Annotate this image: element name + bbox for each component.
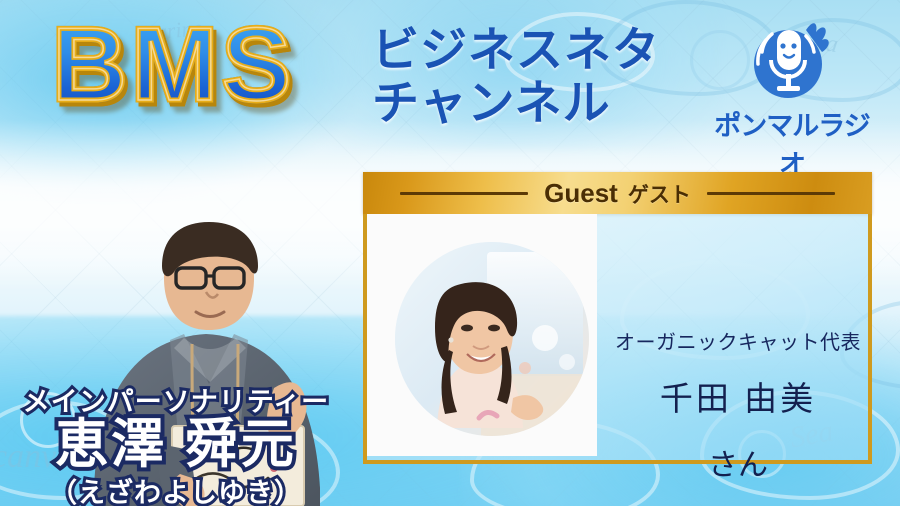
- guest-card: Guestゲスト: [363, 172, 872, 464]
- banner-rule-right: [707, 192, 835, 195]
- channel-title: ビジネスネタ チャンネル: [372, 24, 660, 129]
- guest-portrait-image: [395, 242, 589, 436]
- radio-logo: ポンマルラジオ: [706, 16, 878, 144]
- guest-banner-label-jp: ゲスト: [628, 184, 691, 207]
- main-personality-role: メインパーソナリティー: [0, 380, 352, 419]
- main-personality-name: 恵澤 舜元: [0, 417, 352, 473]
- guest-banner: Guestゲスト: [363, 172, 872, 214]
- thumbnail-canvas: canva marine sea Sea BMS BMS ビジネスネタ チャンネ…: [0, 0, 900, 506]
- microphone-flame-character-icon: [744, 16, 840, 102]
- channel-title-line1: ビジネスネタ: [372, 24, 660, 77]
- guest-card-body: オーガニックキャット代表 千田 由美 さん: [363, 214, 872, 464]
- bms-logotype: BMS: [52, 13, 295, 117]
- guest-photo-panel: [367, 214, 597, 456]
- main-personality-kana: （えざわよしゆき）: [0, 471, 352, 506]
- guest-title: オーガニックキャット代表: [603, 326, 873, 355]
- main-personality-caption: メインパーソナリティー 恵澤 舜元 （えざわよしゆき）: [0, 380, 352, 506]
- guest-name: 千田 由美: [603, 372, 873, 420]
- radio-logo-name: ポンマルラジオ: [706, 104, 878, 182]
- banner-rule-left: [400, 192, 528, 195]
- guest-banner-label-en: Guest: [544, 178, 618, 208]
- channel-title-line2: チャンネル: [372, 77, 660, 130]
- guest-photo: [395, 242, 589, 436]
- guest-honorific: さん: [603, 440, 873, 484]
- guest-banner-text: Guestゲスト: [544, 178, 691, 209]
